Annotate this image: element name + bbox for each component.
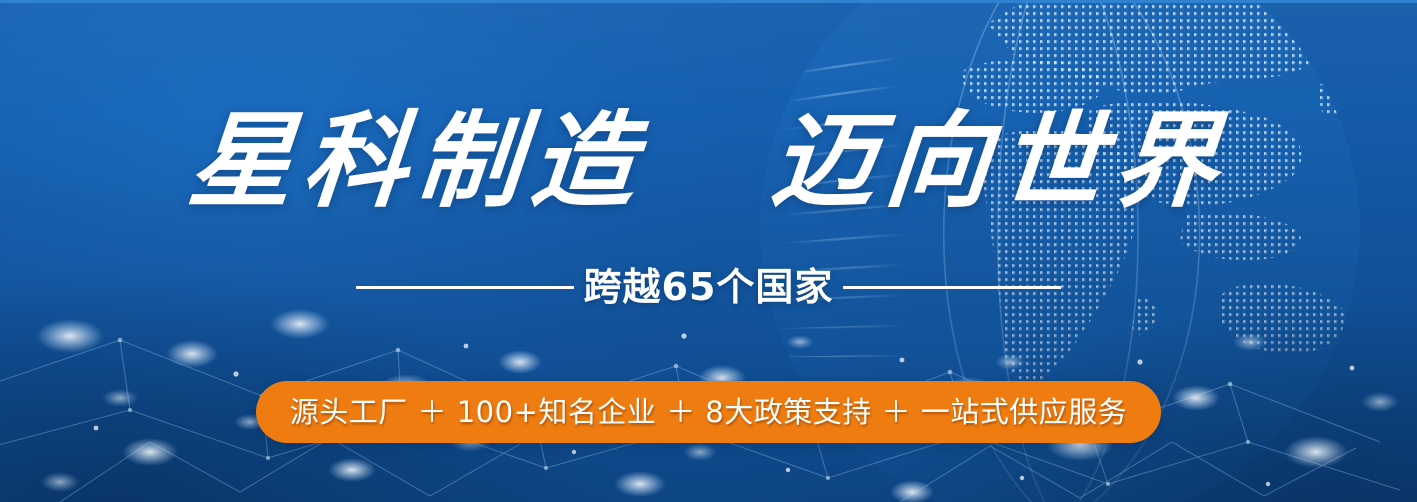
headline: 星科制造 迈向世界 xyxy=(0,100,1417,222)
promo-banner: 星科制造 迈向世界 跨越65个国家 源头工厂 ＋ 100+知名企业 ＋ 8大政策… xyxy=(0,0,1417,502)
subtitle-row: 跨越65个国家 xyxy=(0,262,1417,312)
feature-pill[interactable]: 源头工厂 ＋ 100+知名企业 ＋ 8大政策支持 ＋ 一站式供应服务 xyxy=(256,381,1161,443)
headline-part-1: 星科制造 xyxy=(184,99,651,222)
headline-part-2: 迈向世界 xyxy=(766,99,1233,222)
feature-pill-text: 源头工厂 ＋ 100+知名企业 ＋ 8大政策支持 ＋ 一站式供应服务 xyxy=(290,395,1127,429)
subtitle-rule-left xyxy=(356,286,574,289)
subtitle-rule-right xyxy=(843,286,1061,289)
top-edge-rule xyxy=(0,0,1417,3)
subtitle-text: 跨越65个国家 xyxy=(584,262,834,312)
feature-pill-row: 源头工厂 ＋ 100+知名企业 ＋ 8大政策支持 ＋ 一站式供应服务 xyxy=(0,381,1417,443)
